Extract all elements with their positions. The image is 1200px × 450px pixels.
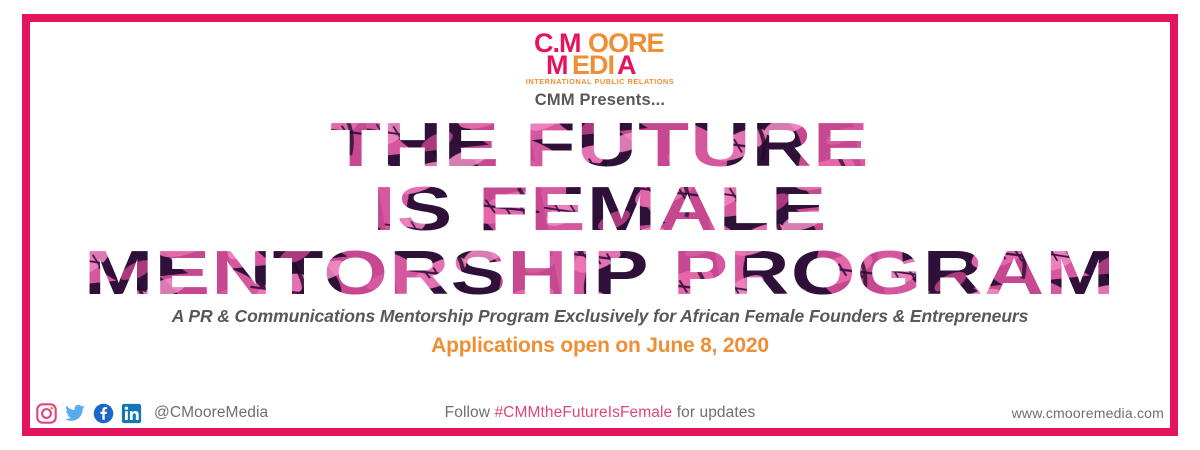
flyer-content: C.M OORE M EDI A INTERNATIONAL PUBLIC RE… xyxy=(30,22,1170,428)
website-url[interactable]: www.cmooremedia.com xyxy=(1012,405,1164,421)
logo-a-text: A xyxy=(617,50,636,80)
facebook-icon[interactable] xyxy=(93,403,114,424)
subtitle-text: A PR & Communications Mentorship Program… xyxy=(172,306,1029,327)
logo-tagline-text: INTERNATIONAL PUBLIC RELATIONS xyxy=(526,77,674,86)
applications-open-text: Applications open on June 8, 2020 xyxy=(431,334,769,358)
logo-mark: C.M OORE M EDI A INTERNATIONAL PUBLIC RE… xyxy=(516,26,684,88)
logo-m-text: M xyxy=(546,50,568,80)
hashtag-text[interactable]: #CMMtheFutureIsFemale xyxy=(494,404,672,421)
follow-prefix: Follow xyxy=(445,404,495,421)
headline-line-2: IS FEMALE xyxy=(372,174,827,243)
follow-hashtag-text: Follow #CMMtheFutureIsFemale for updates xyxy=(445,404,756,422)
follow-suffix: for updates xyxy=(672,404,755,421)
headline-art: THE FUTURE IS FEMALE MENTORSHIP PROGRAM xyxy=(60,112,1140,302)
flyer-canvas: C.M OORE M EDI A INTERNATIONAL PUBLIC RE… xyxy=(0,0,1200,450)
headline-line-1: THE FUTURE xyxy=(330,112,870,180)
logo-edi-text: EDI xyxy=(572,50,614,80)
headline-block: THE FUTURE IS FEMALE MENTORSHIP PROGRAM xyxy=(30,112,1170,302)
social-handle[interactable]: @CMooreMedia xyxy=(154,404,268,422)
twitter-icon[interactable] xyxy=(64,403,86,424)
footer-bar: @CMooreMedia Follow #CMMtheFutureIsFemal… xyxy=(36,400,1164,426)
headline-line-3: MENTORSHIP PROGRAM xyxy=(84,238,1116,302)
cmoore-media-logo: C.M OORE M EDI A INTERNATIONAL PUBLIC RE… xyxy=(516,26,684,88)
linkedin-icon[interactable] xyxy=(121,403,142,424)
instagram-icon[interactable] xyxy=(36,403,57,424)
presents-label: CMM Presents... xyxy=(535,91,665,110)
social-links: @CMooreMedia xyxy=(36,403,268,424)
